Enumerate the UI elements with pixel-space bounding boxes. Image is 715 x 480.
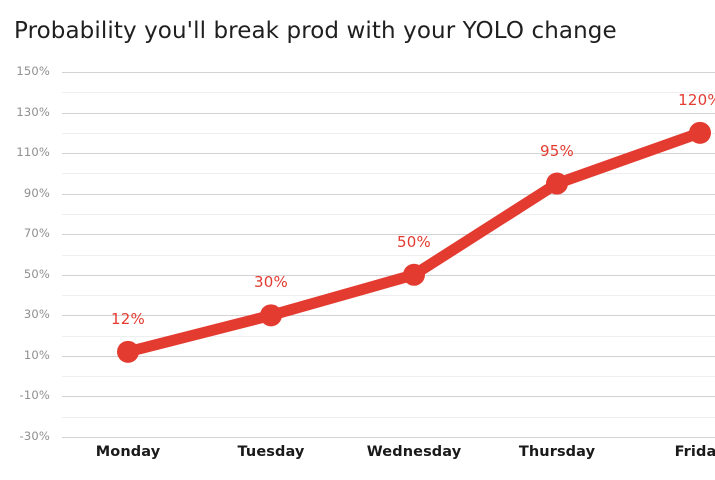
gridline-major-150 xyxy=(62,72,715,73)
x-tick-label-friday: Friday xyxy=(675,444,715,460)
gridline-major-50 xyxy=(62,275,715,276)
x-tick-label-monday: Monday xyxy=(96,444,160,460)
gridline-minor-80 xyxy=(62,214,715,215)
x-tick-label-tuesday: Tuesday xyxy=(238,444,305,460)
plot-area xyxy=(62,72,715,437)
data-point-label: 12% xyxy=(111,310,145,328)
y-tick-label: -10% xyxy=(0,388,50,402)
y-tick-label: 50% xyxy=(0,267,50,281)
y-tick-label: 130% xyxy=(0,105,50,119)
gridline-major-110 xyxy=(62,153,715,154)
gridline-minor-120 xyxy=(62,133,715,134)
data-point-label: 120% xyxy=(678,91,715,109)
y-tick-label: 30% xyxy=(0,307,50,321)
chart-title: Probability you'll break prod with your … xyxy=(14,14,704,48)
gridline-minor--20 xyxy=(62,417,715,418)
gridline-major-30 xyxy=(62,315,715,316)
data-point-label: 50% xyxy=(397,233,431,251)
data-point-label: 95% xyxy=(540,142,574,160)
gridline-minor-100 xyxy=(62,173,715,174)
data-point-label: 30% xyxy=(254,273,288,291)
gridline-minor-60 xyxy=(62,255,715,256)
y-tick-label: 10% xyxy=(0,348,50,362)
gridline-major--30 xyxy=(62,437,715,438)
y-tick-label: 150% xyxy=(0,64,50,78)
gridline-major-130 xyxy=(62,113,715,114)
y-tick-label: -30% xyxy=(0,429,50,443)
gridline-major-90 xyxy=(62,194,715,195)
x-tick-label-thursday: Thursday xyxy=(519,444,595,460)
gridline-major-70 xyxy=(62,234,715,235)
gridline-major--10 xyxy=(62,396,715,397)
gridline-minor-20 xyxy=(62,336,715,337)
y-tick-label: 70% xyxy=(0,226,50,240)
gridline-minor-0 xyxy=(62,376,715,377)
y-tick-label: 110% xyxy=(0,145,50,159)
gridline-minor-140 xyxy=(62,92,715,93)
x-tick-label-wednesday: Wednesday xyxy=(367,444,462,460)
gridline-major-10 xyxy=(62,356,715,357)
gridline-minor-40 xyxy=(62,295,715,296)
y-tick-label: 90% xyxy=(0,186,50,200)
line-chart: Probability you'll break prod with your … xyxy=(0,0,715,480)
